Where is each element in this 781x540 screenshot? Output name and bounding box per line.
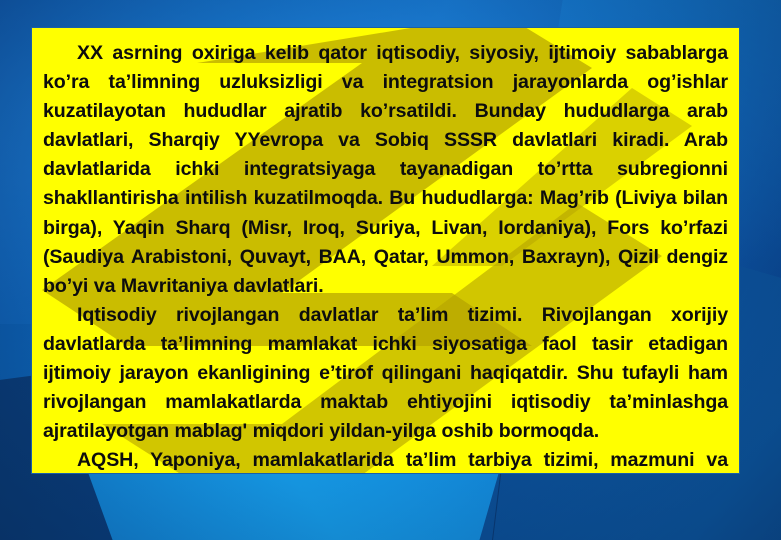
paragraph-3: AQSH, Yaponiya, mamlakatlarida ta’lim ta… (43, 446, 728, 474)
presentation-slide: XX asrning oxiriga kelib qator iqtisodiy… (0, 0, 781, 540)
text-content-box[interactable]: XX asrning oxiriga kelib qator iqtisodiy… (31, 27, 740, 474)
slide-text: XX asrning oxiriga kelib qator iqtisodiy… (32, 28, 739, 474)
paragraph-2: Iqtisodiy rivojlangan davlatlar ta’lim t… (43, 301, 728, 446)
paragraph-1: XX asrning oxiriga kelib qator iqtisodiy… (43, 39, 728, 301)
